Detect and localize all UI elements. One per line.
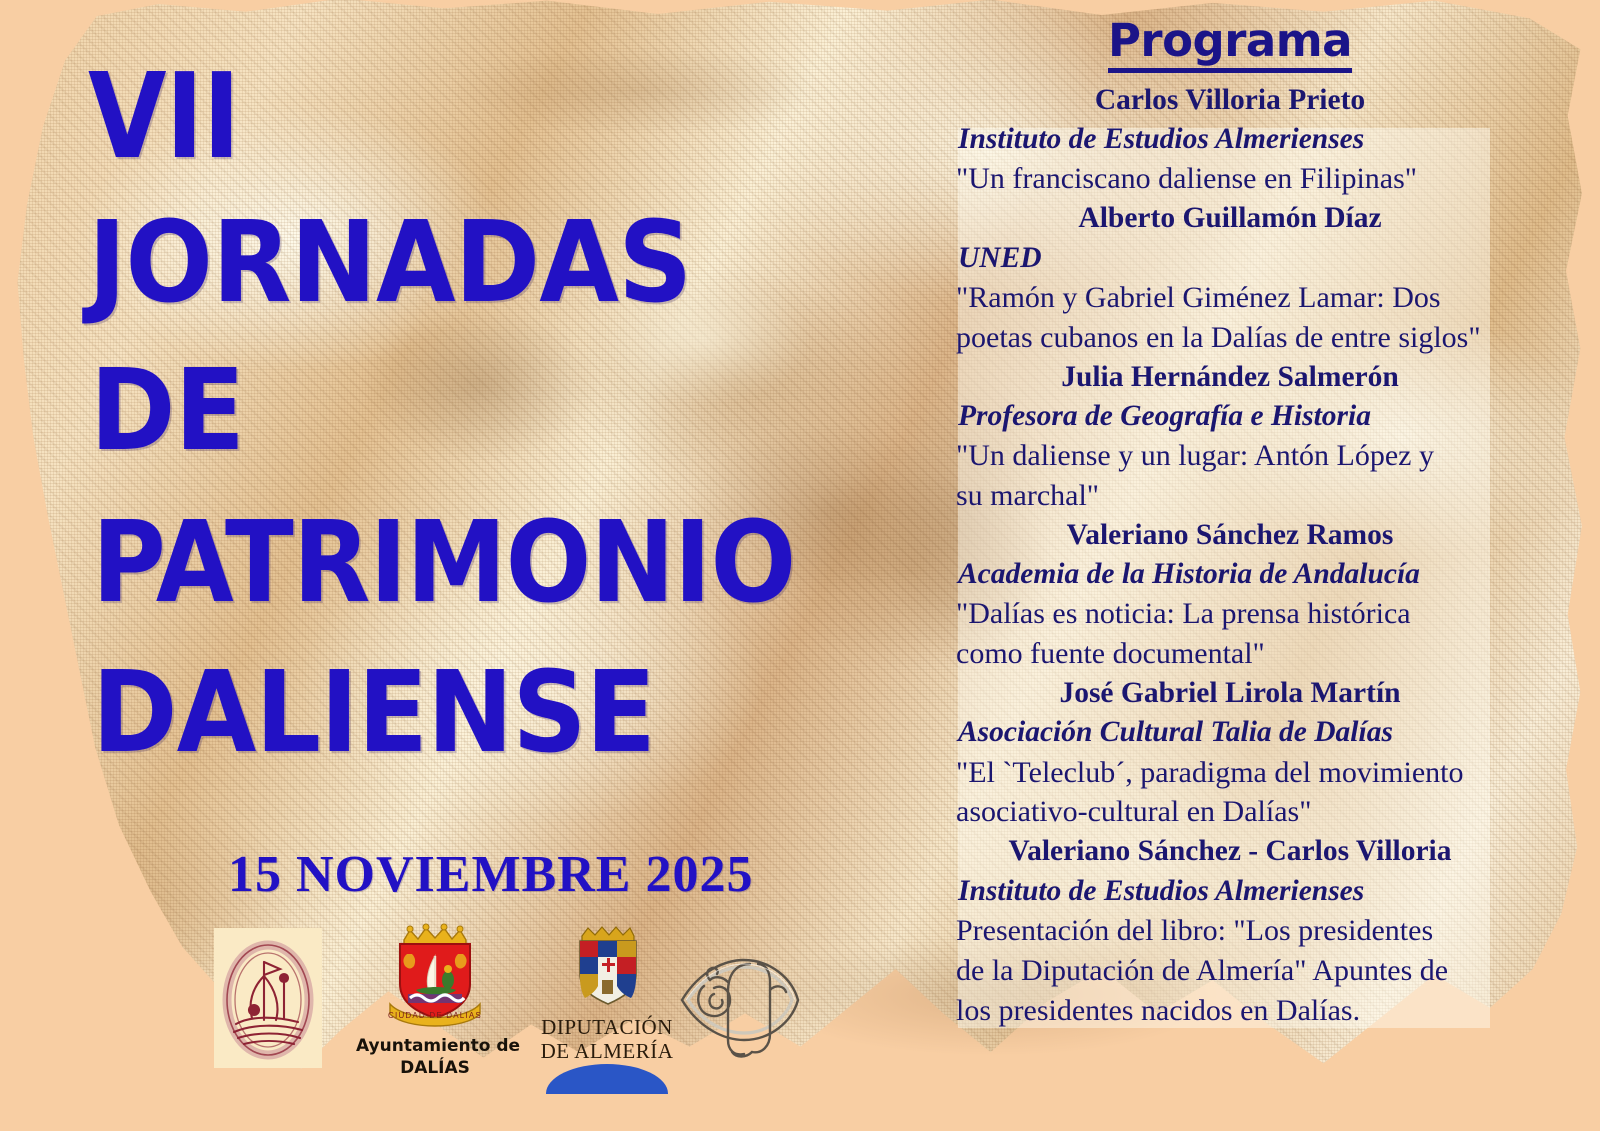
- talk-title-line: Presentación del libro: "Los presidentes: [950, 911, 1510, 951]
- svg-text:CIUDAD DE DALIAS: CIUDAD DE DALIAS: [388, 1011, 482, 1020]
- monogram-logo: [674, 934, 804, 1064]
- diputacion-de-almeria-logo: DIPUTACIÓN DE ALMERÍA: [532, 922, 682, 1088]
- talk-title-line: los presidentes nacidos en Dalías.: [950, 991, 1510, 1031]
- talk-speaker: Valeriano Sánchez Ramos: [950, 516, 1510, 555]
- talk-title-line: de la Diputación de Almería" Apuntes de: [950, 951, 1510, 991]
- ayuntamiento-caption-line2: DALÍAS: [356, 1058, 514, 1078]
- talk-title-line: "Un franciscano daliense en Filipinas": [950, 159, 1510, 199]
- ornate-monogram-icon: [674, 1051, 804, 1068]
- talk-title-line: "Ramón y Gabriel Giménez Lamar: Dos: [950, 278, 1510, 318]
- title-line-de: DE: [90, 360, 244, 463]
- talk-title-line: como fuente documental": [950, 634, 1510, 674]
- talk-speaker: Valeriano Sánchez - Carlos Villoria: [950, 832, 1510, 871]
- diputacion-caption-line2: DE ALMERÍA: [532, 1040, 682, 1062]
- talk-title-line: asociativo-cultural en Dalías": [950, 792, 1510, 832]
- talk-affiliation: Profesora de Geografía e Historia: [950, 397, 1510, 436]
- talk-item: Valeriano Sánchez - Carlos Villoria Inst…: [950, 832, 1510, 1030]
- event-poster: VII JORNADAS DE PATRIMONIO DALIENSE 15 N…: [0, 0, 1600, 1131]
- diputacion-caption-line1: DIPUTACIÓN: [532, 1016, 682, 1038]
- diputacion-swoosh-icon: [546, 1064, 668, 1094]
- talk-affiliation: Instituto de Estudios Almerienses: [950, 120, 1510, 159]
- talk-speaker: José Gabriel Lirola Martín: [950, 674, 1510, 713]
- instituto-de-estudios-almerienses-logo: [214, 928, 322, 1068]
- talk-title-line: "El `Teleclub´, paradigma del movimiento: [950, 753, 1510, 793]
- programme-section: Programa Carlos Villoria Prieto Institut…: [950, 14, 1510, 1031]
- talk-title-line: "Un daliense y un lugar: Antón López y: [950, 436, 1510, 476]
- talk-item: José Gabriel Lirola Martín Asociación Cu…: [950, 674, 1510, 832]
- programme-heading: Programa: [950, 14, 1510, 69]
- title-line-patrimonio: PATRIMONIO: [92, 512, 795, 615]
- talk-speaker: Carlos Villoria Prieto: [950, 81, 1510, 120]
- programme-heading-text: Programa: [1108, 14, 1352, 73]
- title-line-edition: VII: [88, 62, 239, 171]
- talk-item: Valeriano Sánchez Ramos Academia de la H…: [950, 516, 1510, 674]
- ayuntamiento-de-dalias-logo: CIUDAD DE DALIAS Ayuntamiento de DALÍAS: [356, 918, 514, 1088]
- provincial-shield-icon: [532, 922, 682, 1014]
- talk-item: Alberto Guillamón Díaz UNED "Ramón y Gab…: [950, 199, 1510, 357]
- talk-item: Carlos Villoria Prieto Instituto de Estu…: [950, 81, 1510, 199]
- coat-of-arms-icon: CIUDAD DE DALIAS: [356, 918, 514, 1034]
- talk-title-line: "Dalías es noticia: La prensa histórica: [950, 594, 1510, 634]
- talk-affiliation: UNED: [950, 239, 1510, 278]
- talk-speaker: Julia Hernández Salmerón: [950, 358, 1510, 397]
- talk-speaker: Alberto Guillamón Díaz: [950, 199, 1510, 238]
- talk-affiliation: Instituto de Estudios Almerienses: [950, 872, 1510, 911]
- talk-title-line: poetas cubanos en la Dalías de entre sig…: [950, 318, 1510, 358]
- title-line-jornadas: JORNADAS: [88, 212, 691, 315]
- ayuntamiento-caption-line1: Ayuntamiento de: [356, 1036, 514, 1056]
- title-line-daliense: DALIENSE: [92, 662, 655, 765]
- sponsor-logos-row: CIUDAD DE DALIAS Ayuntamiento de DALÍAS: [214, 918, 834, 1088]
- talk-item: Julia Hernández Salmerón Profesora de Ge…: [950, 358, 1510, 516]
- talk-affiliation: Academia de la Historia de Andalucía: [950, 555, 1510, 594]
- talk-title-line: su marchal": [950, 476, 1510, 516]
- ship-crest-icon: [214, 928, 322, 1068]
- talk-affiliation: Asociación Cultural Talia de Dalías: [950, 713, 1510, 752]
- event-date: 15 NOVIEMBRE 2025: [228, 845, 753, 904]
